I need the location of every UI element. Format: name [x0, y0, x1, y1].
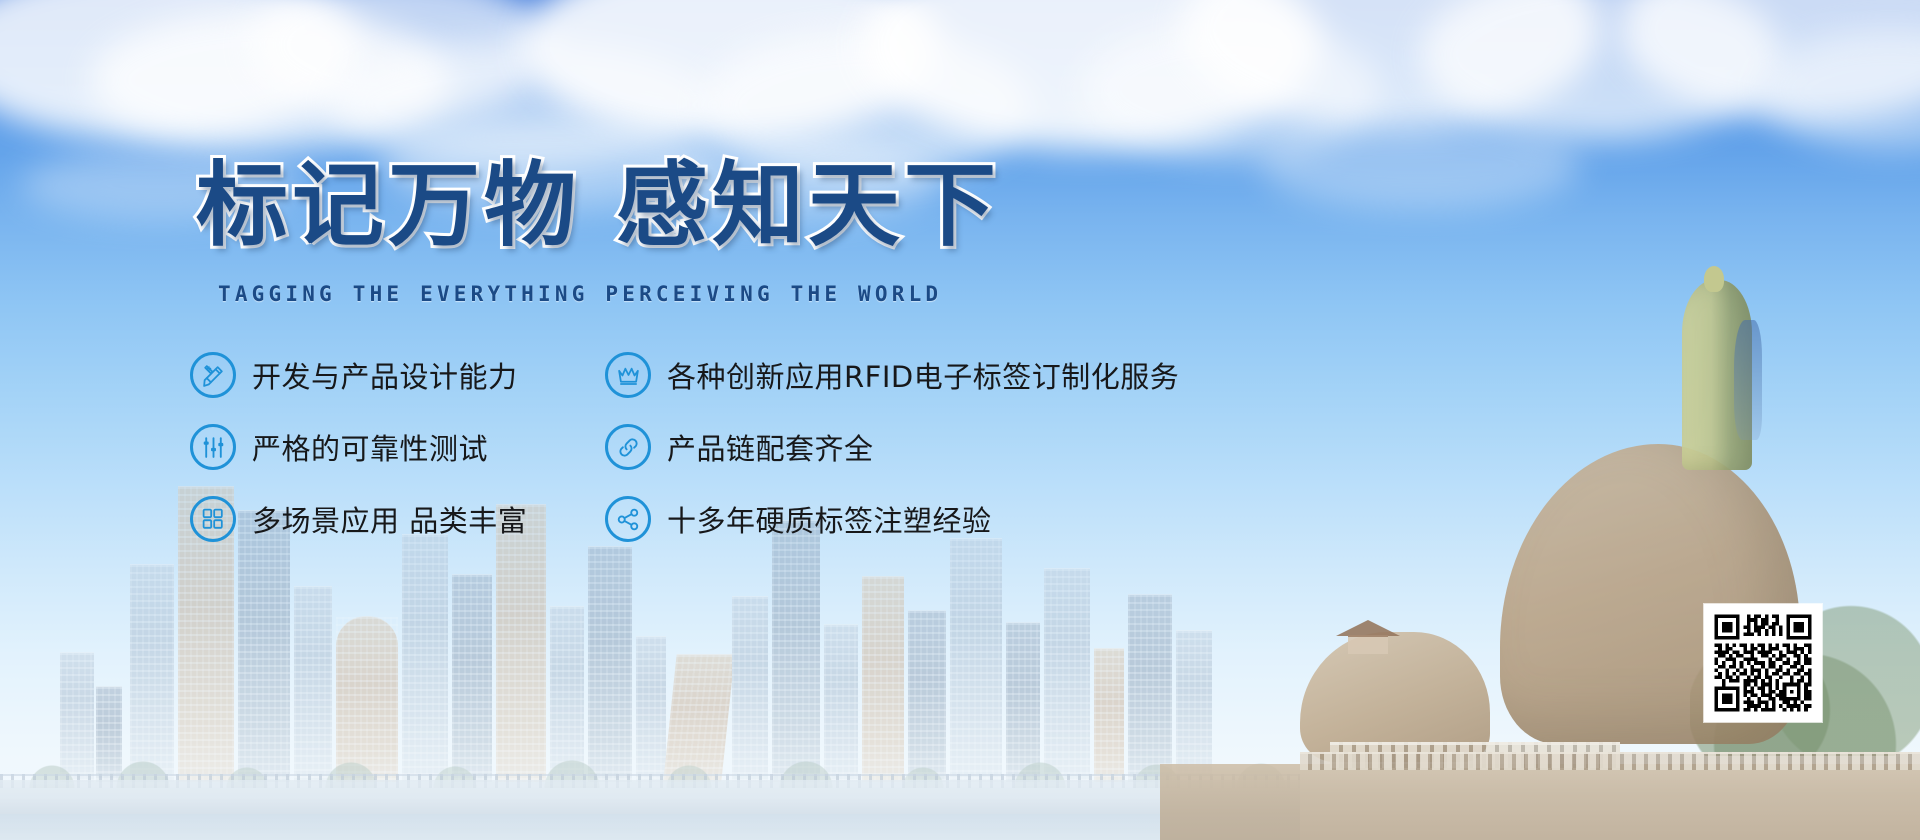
feature-item-rfid-customization[interactable]: 各种创新应用RFID电子标签订制化服务: [605, 352, 1179, 398]
sliders-icon: [190, 424, 236, 470]
promo-banner: 标记万物 感知天下 TAGGING THE EVERYTHING PERCEIV…: [0, 0, 1920, 840]
feature-label: 十多年硬质标签注塑经验: [667, 498, 992, 540]
crown-icon: [605, 352, 651, 398]
banner-subheadline: TAGGING THE EVERYTHING PERCEIVING THE WO…: [218, 282, 942, 306]
content-layer: 标记万物 感知天下 TAGGING THE EVERYTHING PERCEIV…: [0, 0, 1920, 840]
feature-label: 产品链配套齐全: [667, 426, 874, 468]
banner-headline: 标记万物 感知天下: [196, 160, 1000, 252]
qr-code-image: [1711, 611, 1815, 715]
qr-code[interactable]: [1704, 604, 1822, 722]
feature-item-multi-scenario[interactable]: 多场景应用 品类丰富: [190, 496, 605, 542]
grid-squares-icon: [190, 496, 236, 542]
feature-item-design-capability[interactable]: 开发与产品设计能力: [190, 352, 605, 398]
chain-link-icon: [605, 424, 651, 470]
feature-label: 开发与产品设计能力: [252, 354, 518, 396]
feature-label: 各种创新应用RFID电子标签订制化服务: [667, 354, 1179, 396]
feature-label: 严格的可靠性测试: [252, 426, 488, 468]
feature-label: 多场景应用 品类丰富: [252, 498, 527, 540]
pencil-ruler-icon: [190, 352, 236, 398]
feature-list: 开发与产品设计能力 各种创新应用RFID电子标签订制化服务: [190, 352, 1179, 542]
feature-item-product-chain[interactable]: 产品链配套齐全: [605, 424, 1179, 470]
feature-item-molding-experience[interactable]: 十多年硬质标签注塑经验: [605, 496, 1179, 542]
share-nodes-icon: [605, 496, 651, 542]
feature-item-reliability-testing[interactable]: 严格的可靠性测试: [190, 424, 605, 470]
